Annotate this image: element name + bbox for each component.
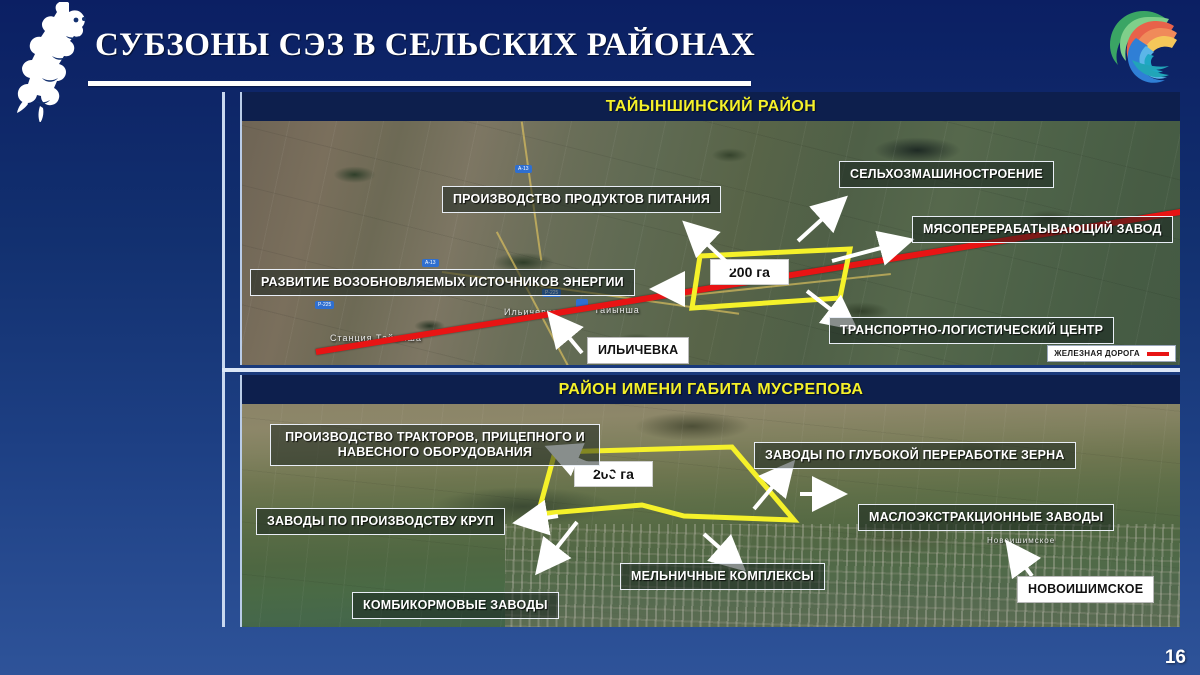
sez-wave-logo	[1102, 6, 1188, 84]
satellite-map-tayinshinsky[interactable]: А-13 А-13 Р-225 Р-225 Ильичевка Тайынша …	[242, 121, 1180, 365]
panel-left-accent	[222, 92, 225, 627]
label-renewable-energy[interactable]: РАЗВИТИЕ ВОЗОБНОВЛЯЕМЫХ ИСТОЧНИКОВ ЭНЕРГ…	[250, 269, 635, 296]
panel-header-musrepov: РАЙОН ИМЕНИ ГАБИТА МУСРЕПОВА	[242, 375, 1180, 404]
label-groats-plants[interactable]: ЗАВОДЫ ПО ПРОИЗВОДСТВУ КРУП	[256, 508, 505, 535]
railway-legend: ЖЕЛЕЗНАЯ ДОРОГА	[1047, 345, 1176, 362]
label-grain-processing[interactable]: ЗАВОДЫ ПО ГЛУБОКОЙ ПЕРЕРАБОТКЕ ЗЕРНА	[754, 442, 1076, 469]
railway-legend-text: ЖЕЛЕЗНАЯ ДОРОГА	[1054, 349, 1140, 358]
panel-tayinshinsky: ТАЙЫНШИНСКИЙ РАЙОН А-13 А-13 Р-225 Р-225…	[240, 92, 1180, 365]
label-oil-extraction[interactable]: МАСЛОЭКСТРАКЦИОННЫЕ ЗАВОДЫ	[858, 504, 1114, 531]
map-panels: ТАЙЫНШИНСКИЙ РАЙОН А-13 А-13 Р-225 Р-225…	[222, 92, 1180, 627]
label-food-production[interactable]: ПРОИЗВОДСТВО ПРОДУКТОВ ПИТАНИЯ	[442, 186, 721, 213]
place-name-novoishimskoye: Новоишимское	[987, 536, 1055, 545]
title-rule	[88, 81, 751, 86]
snow-leopard-emblem	[6, 2, 102, 122]
label-meat-plant[interactable]: МЯСОПЕРЕРАБАТЫВАЮЩИЙ ЗАВОД	[912, 216, 1173, 243]
plot-area-badge: 200 га	[710, 259, 789, 285]
label-tractor-production[interactable]: ПРОИЗВОДСТВО ТРАКТОРОВ, ПРИЦЕПНОГО И НАВ…	[270, 424, 600, 466]
page-number: 16	[1165, 647, 1186, 669]
railway-legend-swatch	[1147, 352, 1169, 356]
road-chip: А-13	[422, 259, 439, 267]
label-feed-plants[interactable]: КОМБИКОРМОВЫЕ ЗАВОДЫ	[352, 592, 559, 619]
road-chip: Р-225	[315, 301, 334, 309]
label-ilichevka[interactable]: ИЛЬИЧЕВКА	[587, 337, 689, 364]
satellite-map-musrepov[interactable]: Новоишимское 200 га	[242, 404, 1180, 627]
label-mill-complexes[interactable]: МЕЛЬНИЧНЫЕ КОМПЛЕКСЫ	[620, 563, 825, 590]
label-agro-machinery[interactable]: СЕЛЬХОЗМАШИНОСТРОЕНИЕ	[839, 161, 1054, 188]
road-chip: А-13	[515, 165, 532, 173]
panel-header-tayinshinsky: ТАЙЫНШИНСКИЙ РАЙОН	[242, 92, 1180, 121]
slide-root: СУБЗОНЫ СЭЗ В СЕЛЬСКИХ РАЙОНАХ ТАЙЫНШИНС…	[0, 0, 1200, 675]
panel-divider	[222, 368, 1180, 372]
page-title: СУБЗОНЫ СЭЗ В СЕЛЬСКИХ РАЙОНАХ	[95, 18, 795, 72]
label-transport-logistics[interactable]: ТРАНСПОРТНО-ЛОГИСТИЧЕСКИЙ ЦЕНТР	[829, 317, 1114, 344]
label-novoishimskoye[interactable]: НОВОИШИМСКОЕ	[1017, 576, 1154, 603]
panel-musrepov: РАЙОН ИМЕНИ ГАБИТА МУСРЕПОВА Новоишимско…	[240, 375, 1180, 627]
